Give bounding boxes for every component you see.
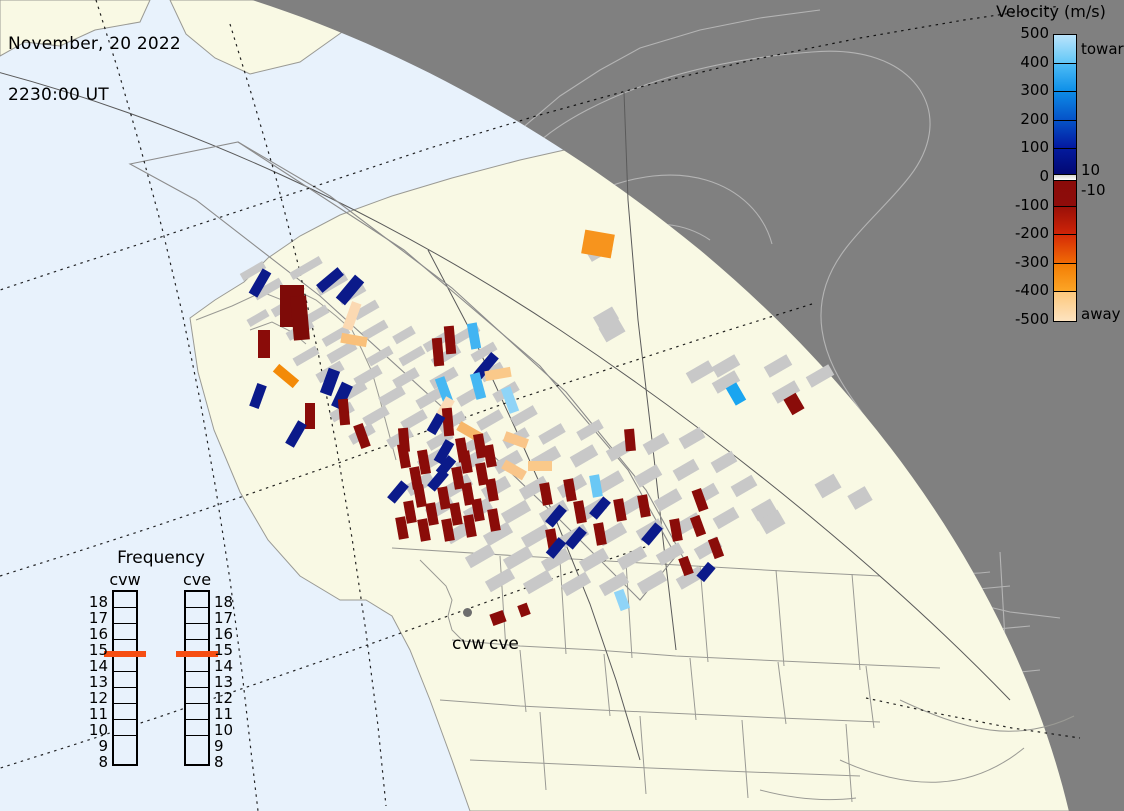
radar-site-label-cvw: cvw: [452, 634, 485, 654]
ground-scatter-cell: [523, 570, 553, 594]
colorbar-tick: 200: [1020, 112, 1049, 127]
velocity-cell: [613, 498, 627, 521]
colorbar-tick: -500: [1015, 312, 1049, 327]
frequency-scale-row: [114, 656, 136, 672]
velocity-cell: [517, 603, 531, 618]
ground-scatter-cell: [814, 474, 841, 499]
frequency-scale-row: [186, 608, 208, 624]
ground-scatter-cell: [400, 409, 428, 431]
radar-site-label-cve: cve: [489, 634, 519, 654]
frequency-tick: 18: [89, 595, 108, 610]
colorbar-segment: [1054, 264, 1076, 293]
colorbar-label-minus10: -10: [1081, 183, 1106, 198]
title-block: November, 20 2022 2230:00 UT: [8, 2, 181, 138]
frequency-tick: 12: [214, 691, 233, 706]
frequency-tick: 14: [214, 659, 233, 674]
ground-scatter-cell: [576, 419, 604, 441]
frequency-column-label: cvw: [102, 570, 148, 589]
velocity-cell: [581, 230, 615, 259]
frequency-scale-row: [186, 736, 208, 752]
ground-scatter-cell: [398, 346, 425, 367]
frequency-marker-cvw: [104, 651, 146, 657]
frequency-scale-row: [114, 688, 136, 704]
frequency-scale-row: [114, 624, 136, 640]
velocity-cell: [624, 429, 636, 452]
ground-scatter-cell: [465, 544, 495, 568]
ground-scatter-cell: [476, 409, 504, 431]
colorbar-segment: [1054, 292, 1076, 321]
velocity-cell: [678, 556, 694, 576]
velocity-cell: [589, 474, 603, 497]
colorbar-segment: [1054, 121, 1076, 150]
frequency-column-label: cve: [174, 570, 220, 589]
frequency-scale-box: [112, 590, 138, 766]
frequency-tick: 11: [89, 707, 108, 722]
frequency-tick: 16: [89, 627, 108, 642]
colorbar-title: Velocity (m/s): [981, 2, 1121, 21]
frequency-tick: 14: [89, 659, 108, 674]
ground-scatter-cell: [579, 548, 609, 572]
frequency-tick: 9: [214, 739, 224, 754]
frequency-tick: 12: [89, 691, 108, 706]
velocity-cell: [285, 420, 307, 448]
velocity-cell: [258, 330, 270, 358]
frequency-tick: 15: [89, 643, 108, 658]
velocity-cell: [637, 494, 651, 517]
ground-scatter-cell: [643, 433, 670, 455]
frequency-tick: 13: [214, 675, 233, 690]
frequency-scale-row: [114, 736, 136, 752]
colorbar-segment: [1054, 207, 1076, 236]
frequency-tick: 10: [214, 723, 233, 738]
velocity-cell: [489, 610, 506, 626]
frequency-legend-title: Frequency: [96, 548, 226, 568]
ground-scatter-cell: [617, 546, 647, 570]
ground-scatter-cell: [392, 326, 416, 345]
frequency-scale-row: [114, 720, 136, 736]
velocity-cell: [593, 522, 607, 545]
colorbar-label-away: away: [1081, 307, 1121, 322]
colorbar-tick: 0: [1039, 169, 1049, 184]
colorbar-segment: [1054, 235, 1076, 264]
frequency-tick: 10: [89, 723, 108, 738]
radar-site-dot: [463, 608, 472, 617]
frequency-scale-row: [114, 608, 136, 624]
ground-scatter-cell: [731, 475, 758, 497]
ground-scatter-cell: [538, 423, 566, 445]
ground-scatter-cell: [637, 570, 667, 594]
frequency-tick: 8: [214, 755, 224, 770]
ground-scatter-cell: [686, 360, 715, 383]
superdarn-velocity-map: November, 20 2022 2230:00 UT Velocity (m…: [0, 0, 1124, 811]
frequency-tick: 17: [89, 611, 108, 626]
ground-scatter-cell: [570, 444, 599, 467]
frequency-scale-row: [186, 624, 208, 640]
frequency-marker-cve: [176, 651, 218, 657]
ground-scatter-cell: [503, 546, 533, 570]
ground-scatter-cell: [561, 572, 591, 596]
ground-scatter-cell: [713, 507, 740, 529]
frequency-scale-row: [114, 672, 136, 688]
colorbar-gradient: [1053, 34, 1077, 322]
ground-scatter-cell: [673, 459, 700, 481]
frequency-tick: 17: [214, 611, 233, 626]
ground-scatter-cell: [806, 364, 835, 387]
frequency-tick: 15: [214, 643, 233, 658]
ground-scatter-cell: [289, 256, 322, 280]
velocity-cell: [487, 508, 501, 531]
frequency-scale-row: [186, 592, 208, 608]
ground-scatter-cell: [711, 451, 738, 473]
frequency-tick: 11: [214, 707, 233, 722]
colorbar-tick: -200: [1015, 226, 1049, 241]
velocity-cell: [249, 383, 267, 409]
ground-scatter-cell: [679, 427, 706, 449]
colorbar-tick: -400: [1015, 283, 1049, 298]
frequency-scale-box: [184, 590, 210, 766]
plot-time: 2230:00 UT: [8, 87, 181, 104]
ground-scatter-cell: [292, 346, 319, 367]
velocity-cell: [573, 500, 587, 523]
frequency-scale-row: [114, 592, 136, 608]
frequency-scale-row: [186, 704, 208, 720]
colorbar-label-plus10: 10: [1081, 163, 1100, 178]
frequency-tick: 18: [214, 595, 233, 610]
colorbar-tick: 100: [1020, 140, 1049, 155]
frequency-tick: 13: [89, 675, 108, 690]
frequency-scale-row: [186, 688, 208, 704]
ground-scatter-cell: [654, 488, 683, 511]
frequency-tick: 16: [214, 627, 233, 642]
ground-scatter-cell: [246, 309, 269, 327]
frequency-scale-row: [186, 672, 208, 688]
colorbar-segment: [1054, 181, 1076, 207]
colorbar-tick: -100: [1015, 198, 1049, 213]
ground-scatter-cell: [366, 346, 393, 367]
ground-scatter-cell: [764, 354, 793, 377]
ground-scatter-cell: [362, 405, 390, 427]
frequency-scale-row: [186, 656, 208, 672]
ground-scatter-cell: [634, 464, 663, 487]
velocity-cell: [387, 480, 409, 503]
velocity-cell: [528, 461, 552, 471]
colorbar-segment: [1054, 64, 1076, 93]
frequency-scale-row: [114, 704, 136, 720]
velocity-cell: [539, 482, 553, 505]
ground-scatter-cell: [485, 568, 515, 592]
colorbar-segment: [1054, 92, 1076, 121]
velocity-cell: [467, 322, 481, 349]
ground-scatter-cell: [378, 385, 406, 407]
colorbar-tick: 400: [1020, 55, 1049, 70]
velocity-cell: [614, 589, 630, 611]
ground-scatter-cell: [392, 367, 420, 389]
colorbar-segment: [1054, 35, 1076, 64]
frequency-tick: 9: [98, 739, 108, 754]
plot-date: November, 20 2022: [8, 36, 181, 53]
ground-scatter-cell: [501, 500, 531, 524]
frequency-tick: 8: [98, 755, 108, 770]
colorbar-segment: [1054, 149, 1076, 175]
frequency-scale-row: [186, 720, 208, 736]
colorbar-tick: 500: [1020, 26, 1049, 41]
colorbar-tick: 300: [1020, 83, 1049, 98]
colorbar-label-toward: toward: [1081, 42, 1124, 57]
colorbar-tick: -300: [1015, 255, 1049, 270]
velocity-cell: [273, 364, 299, 388]
ground-scatter-cell: [847, 486, 872, 510]
velocity-cell: [444, 326, 456, 355]
